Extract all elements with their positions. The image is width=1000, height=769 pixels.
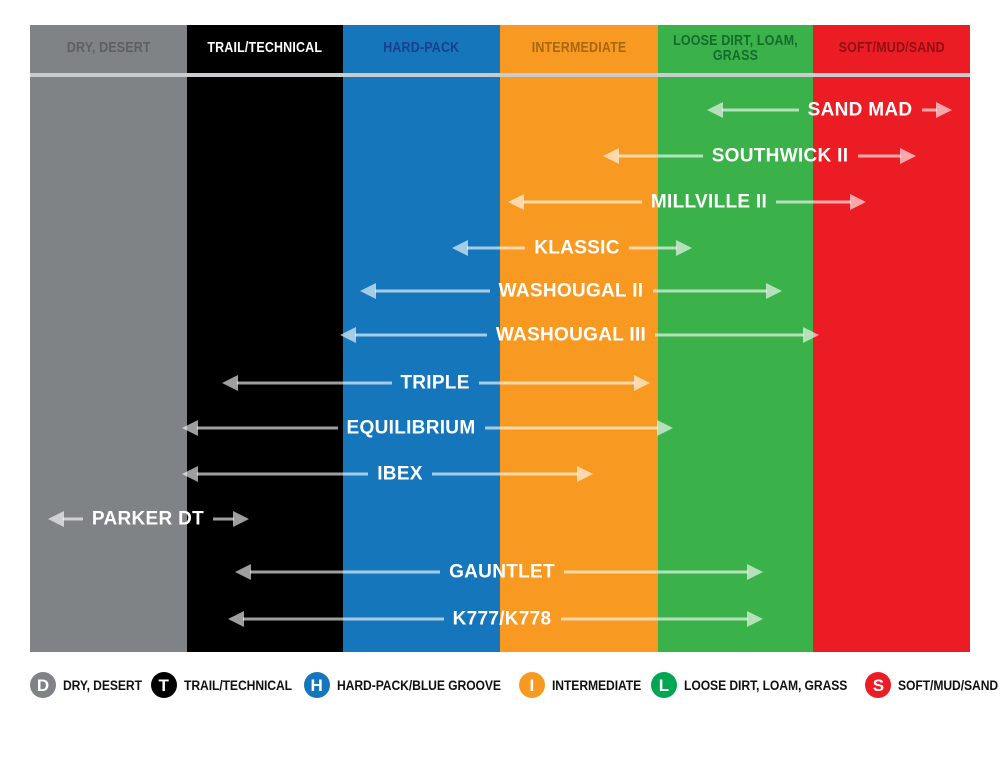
terrain-header-label: TRAIL/TECHNICAL <box>208 41 323 56</box>
arrow-head-right-icon <box>577 466 593 482</box>
arrow-head-left-icon <box>707 102 723 118</box>
legend-badge-icon: H <box>304 672 330 698</box>
arrow-head-right-icon <box>803 327 819 343</box>
legend-item: TTRAIL/TECHNICAL <box>151 672 304 698</box>
arrow-head-left-icon <box>235 564 251 580</box>
terrain-header-label: LOOSE DIRT, LOAM, GRASS <box>672 34 798 64</box>
tire-model-label: IBEX <box>368 465 432 484</box>
tire-model-label: SAND MAD <box>799 101 922 120</box>
tire-model-label: TRIPLE <box>391 374 478 393</box>
arrow-head-left-icon <box>360 283 376 299</box>
range-line-right <box>479 382 636 385</box>
terrain-header-soft: SOFT/MUD/SAND <box>813 25 970 73</box>
legend-badge-icon: L <box>651 672 677 698</box>
arrow-head-left-icon <box>508 194 524 210</box>
arrow-head-right-icon <box>747 564 763 580</box>
tire-range-row: GAUNTLET <box>30 557 970 587</box>
range-line-right <box>655 334 804 337</box>
tire-range-row: SOUTHWICK II <box>30 141 970 171</box>
tire-range-row: MILLVILLE II <box>30 187 970 217</box>
legend-badge-icon: S <box>865 672 891 698</box>
range-line-left <box>523 201 642 204</box>
legend-label: DRY, DESERT <box>63 678 142 693</box>
legend-badge-icon: I <box>519 672 545 698</box>
tire-model-label: GAUNTLET <box>440 563 564 582</box>
tire-range-row: PARKER DT <box>30 504 970 534</box>
tire-range-row: EQUILIBRIUM <box>30 413 970 443</box>
terrain-header-label: SOFT/MUD/SAND <box>838 41 944 56</box>
terrain-header-label: HARD-PACK <box>383 41 459 56</box>
tire-range-row: SAND MAD <box>30 95 970 125</box>
range-line-left <box>197 427 338 430</box>
tire-model-label: PARKER DT <box>83 510 213 529</box>
arrow-head-right-icon <box>233 511 249 527</box>
terrain-header-dry: DRY, DESERT <box>30 25 187 73</box>
arrow-head-left-icon <box>340 327 356 343</box>
terrain-header-intermediate: INTERMEDIATE <box>500 25 658 73</box>
range-line-right <box>432 473 578 476</box>
tire-range-row: WASHOUGAL II <box>30 276 970 306</box>
range-line-right <box>653 290 768 293</box>
range-line-left <box>237 382 392 385</box>
arrow-head-left-icon <box>228 611 244 627</box>
tire-range-row: KLASSIC <box>30 233 970 263</box>
arrow-head-right-icon <box>657 420 673 436</box>
arrow-head-right-icon <box>676 240 692 256</box>
range-line-right <box>858 155 902 158</box>
range-line-left <box>355 334 487 337</box>
arrow-head-right-icon <box>936 102 952 118</box>
legend-item: IINTERMEDIATE <box>519 672 651 698</box>
terrain-header-label: INTERMEDIATE <box>532 41 627 56</box>
tire-model-label: SOUTHWICK II <box>703 147 858 166</box>
tire-model-label: WASHOUGAL II <box>490 282 653 301</box>
tire-range-row: TRIPLE <box>30 368 970 398</box>
range-line-right <box>561 618 749 621</box>
tire-terrain-chart: DRY, DESERTTRAIL/TECHNICALHARD-PACKINTER… <box>0 0 1000 769</box>
tire-model-label: KLASSIC <box>525 239 629 258</box>
range-line-left <box>722 109 799 112</box>
range-line-left <box>250 571 440 574</box>
arrow-head-right-icon <box>766 283 782 299</box>
legend: DDRY, DESERTTTRAIL/TECHNICALHHARD-PACK/B… <box>30 668 970 702</box>
tire-range-rows: SAND MADSOUTHWICK IIMILLVILLE IIKLASSICW… <box>30 77 970 652</box>
range-line-left <box>63 518 83 521</box>
range-line-left <box>467 247 525 250</box>
range-line-left <box>243 618 444 621</box>
tire-range-row: K777/K778 <box>30 604 970 634</box>
range-line-left <box>375 290 490 293</box>
arrow-head-right-icon <box>634 375 650 391</box>
legend-label: INTERMEDIATE <box>552 678 641 693</box>
range-line-right <box>485 427 659 430</box>
terrain-header-row: DRY, DESERTTRAIL/TECHNICALHARD-PACKINTER… <box>30 25 970 73</box>
range-line-right <box>213 518 234 521</box>
range-line-right <box>922 109 938 112</box>
legend-badge-icon: D <box>30 672 56 698</box>
arrow-head-left-icon <box>603 148 619 164</box>
range-line-right <box>564 571 748 574</box>
terrain-header-loose: LOOSE DIRT, LOAM, GRASS <box>658 25 813 73</box>
arrow-head-left-icon <box>222 375 238 391</box>
arrow-head-left-icon <box>452 240 468 256</box>
tire-range-row: WASHOUGAL III <box>30 320 970 350</box>
legend-badge-icon: T <box>151 672 177 698</box>
legend-item: LLOOSE DIRT, LOAM, GRASS <box>651 672 865 698</box>
legend-item: HHARD-PACK/BLUE GROOVE <box>304 672 519 698</box>
legend-item: SSOFT/MUD/SAND <box>865 672 1000 698</box>
legend-label: LOOSE DIRT, LOAM, GRASS <box>684 678 847 693</box>
legend-label: HARD-PACK/BLUE GROOVE <box>337 678 501 693</box>
arrow-head-right-icon <box>900 148 916 164</box>
arrow-head-left-icon <box>48 511 64 527</box>
tire-model-label: WASHOUGAL III <box>487 326 655 345</box>
terrain-header-hardpack: HARD-PACK <box>343 25 500 73</box>
arrow-head-right-icon <box>850 194 866 210</box>
range-line-right <box>629 247 677 250</box>
tire-model-label: MILLVILLE II <box>642 193 776 212</box>
range-line-left <box>197 473 368 476</box>
legend-item: DDRY, DESERT <box>30 672 151 698</box>
legend-label: TRAIL/TECHNICAL <box>184 678 292 693</box>
range-line-right <box>776 201 851 204</box>
arrow-head-left-icon <box>182 420 198 436</box>
legend-label: SOFT/MUD/SAND <box>898 678 998 693</box>
arrow-head-left-icon <box>182 466 198 482</box>
terrain-header-trail: TRAIL/TECHNICAL <box>187 25 343 73</box>
range-line-left <box>618 155 703 158</box>
arrow-head-right-icon <box>747 611 763 627</box>
terrain-header-label: DRY, DESERT <box>67 41 151 56</box>
tire-model-label: K777/K778 <box>444 610 561 629</box>
tire-range-row: IBEX <box>30 459 970 489</box>
tire-model-label: EQUILIBRIUM <box>338 419 485 438</box>
